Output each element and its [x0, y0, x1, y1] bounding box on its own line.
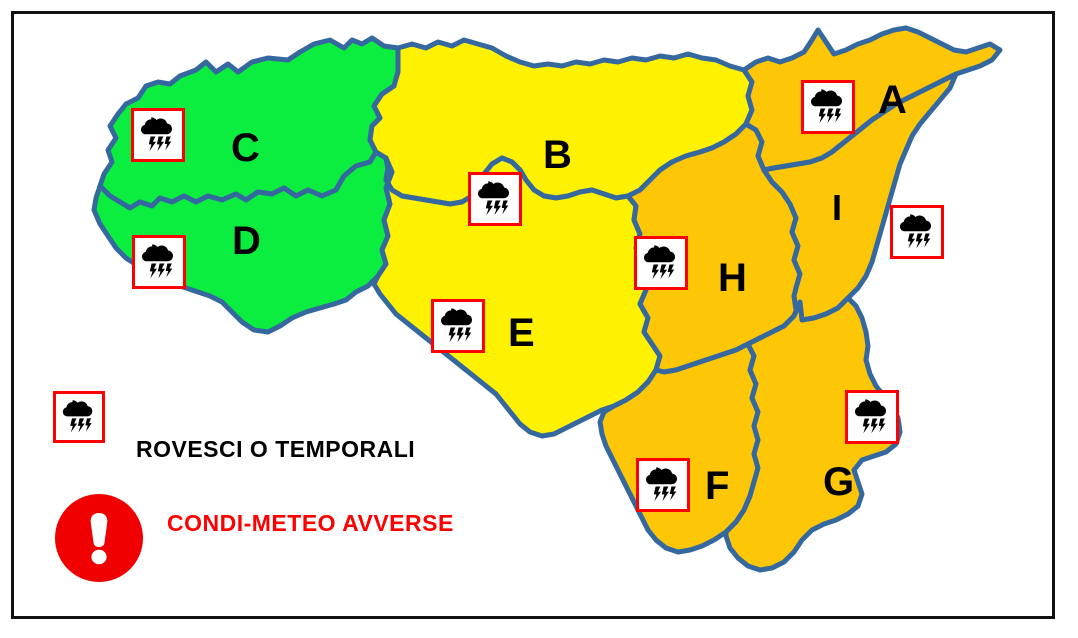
thunderstorm-icon — [139, 242, 179, 282]
storm-icon-box-zone-E[interactable] — [431, 299, 485, 353]
sicily-map-svg — [0, 0, 1078, 638]
thunderstorm-icon — [60, 398, 98, 436]
zone-label-G: G — [823, 462, 854, 502]
thunderstorm-icon — [138, 115, 178, 155]
storm-icon-box-zone-A[interactable] — [801, 80, 855, 134]
storm-icon-box-zone-F[interactable] — [636, 458, 690, 512]
storm-icon-box-zone-D[interactable] — [132, 235, 186, 289]
thunderstorm-icon — [643, 465, 683, 505]
exclamation-mark-glyph — [84, 510, 114, 566]
legend-storm-icon-box — [53, 391, 105, 443]
zone-label-I: I — [832, 190, 842, 226]
zone-label-F: F — [705, 466, 729, 506]
exclamation-circle-icon — [55, 494, 143, 582]
thunderstorm-icon — [852, 397, 892, 437]
storm-icon-box-zone-H[interactable] — [634, 236, 688, 290]
thunderstorm-icon — [808, 87, 848, 127]
zone-label-A: A — [878, 80, 907, 120]
zone-label-D: D — [232, 221, 261, 261]
storm-icon-box-zone-G[interactable] — [845, 390, 899, 444]
zone-label-B: B — [543, 135, 572, 175]
thunderstorm-icon — [641, 243, 681, 283]
thunderstorm-icon — [897, 212, 937, 252]
zone-label-E: E — [508, 313, 535, 353]
thunderstorm-icon — [475, 179, 515, 219]
weather-alert-map-page: A B C D E F G H I — [0, 0, 1078, 638]
zone-label-H: H — [718, 258, 747, 298]
zone-label-C: C — [231, 128, 260, 168]
legend-warning-label: CONDI-METEO AVVERSE — [167, 510, 454, 537]
sicily-map — [0, 0, 1078, 638]
storm-icon-box-zone-B[interactable] — [468, 172, 522, 226]
legend-storm-label: ROVESCI O TEMPORALI — [136, 436, 415, 463]
thunderstorm-icon — [438, 306, 478, 346]
storm-icon-box-zone-C[interactable] — [131, 108, 185, 162]
storm-icon-box-zone-I[interactable] — [890, 205, 944, 259]
